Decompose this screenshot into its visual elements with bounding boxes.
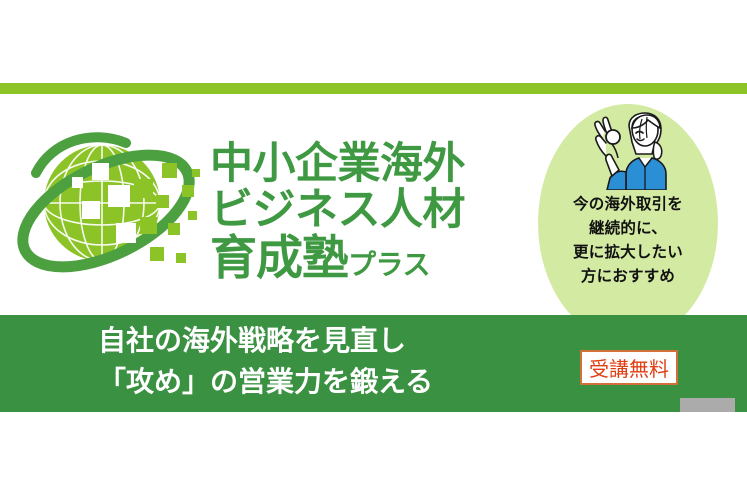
top-accent-rule: [0, 83, 747, 94]
headline-text-group: 自社の海外戦略を見直し 「攻め」の営業力を鍛える: [98, 321, 433, 402]
promo-banner: 今の海外取引を 継続的に、 更に拡大したい 方におすすめ: [0, 0, 747, 498]
logo-wordmark: 中小企業海外 ビジネス人材 育成塾プラス: [210, 141, 465, 283]
free-enrollment-badge: 受講無料: [580, 350, 678, 385]
recommendation-oval-badge: 今の海外取引を 継続的に、 更に拡大したい 方におすすめ: [538, 104, 718, 342]
oval-badge-text-lines: 今の海外取引を 継続的に、 更に拡大したい 方におすすめ: [573, 194, 683, 288]
wordmark-line-3: 育成塾: [210, 233, 348, 283]
brand-logo: 中小企業海外 ビジネス人材 育成塾プラス: [16, 114, 486, 309]
headline-line-2: 「攻め」の営業力を鍛える: [98, 362, 433, 402]
wordmark-line-1: 中小企業海外: [210, 141, 465, 187]
free-enrollment-label: 受講無料: [589, 353, 669, 382]
oval-badge-line-3: 更に拡大したい: [573, 242, 683, 264]
wordmark-line-3-group: 育成塾プラス: [210, 233, 465, 283]
wordmark-suffix: プラス: [348, 250, 430, 283]
oval-badge-line-2: 継続的に、: [589, 218, 667, 240]
oval-badge-line-4: 方におすすめ: [581, 266, 675, 288]
oval-badge-content: 今の海外取引を 継続的に、 更に拡大したい 方におすすめ: [538, 104, 718, 342]
gray-chip-decoration: [680, 398, 735, 412]
globe-orbit-pixel-logo-icon: [16, 119, 208, 305]
oval-badge-line-1: 今の海外取引を: [573, 194, 683, 216]
person-ok-gesture-illustration: [582, 112, 674, 190]
headline-line-1: 自社の海外戦略を見直し: [98, 321, 433, 361]
wordmark-line-2: ビジネス人材: [210, 187, 465, 233]
